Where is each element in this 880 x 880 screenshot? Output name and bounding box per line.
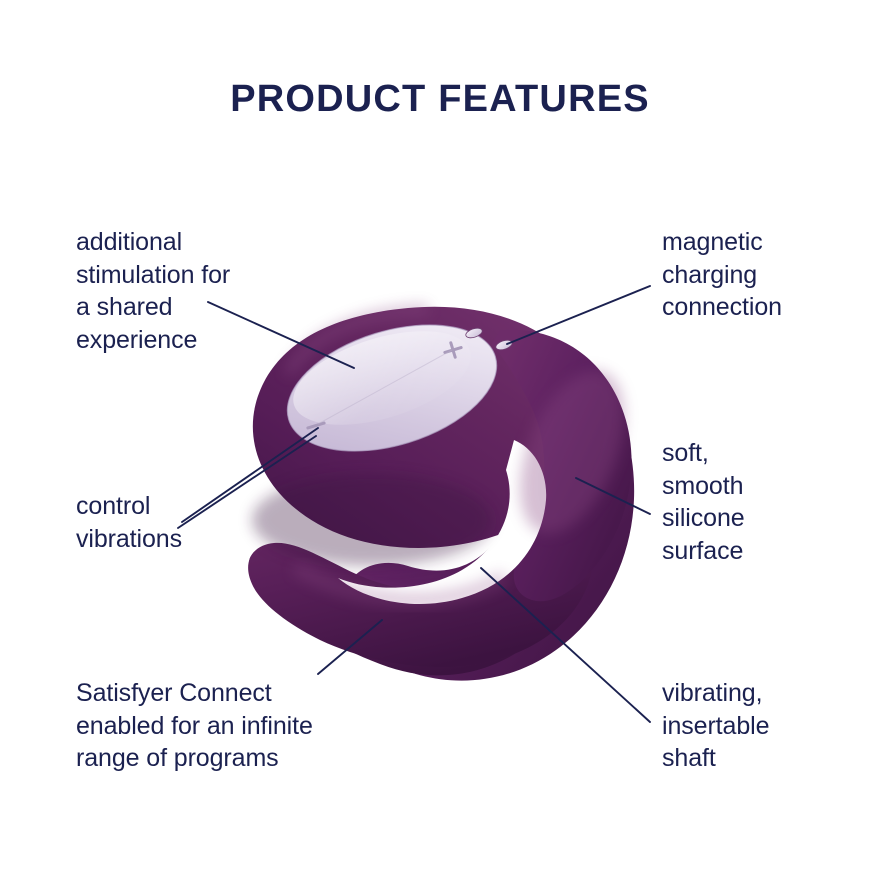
callout-magnetic-charging: magnetic charging connection [662, 226, 880, 324]
callout-satisfyer-connect: Satisfyer Connect enabled for an infinit… [76, 677, 406, 775]
leader-magnetic-charging [507, 286, 650, 344]
callout-soft-silicone: soft, smooth silicone surface [662, 437, 862, 567]
product-features-infographic: PRODUCT FEATURES [0, 0, 880, 880]
callout-control-vibrations: control vibrations [76, 490, 326, 555]
callout-vibrating-shaft: vibrating, insertable shaft [662, 677, 872, 775]
callout-additional-stimulation: additional stimulation for a shared expe… [76, 226, 346, 356]
